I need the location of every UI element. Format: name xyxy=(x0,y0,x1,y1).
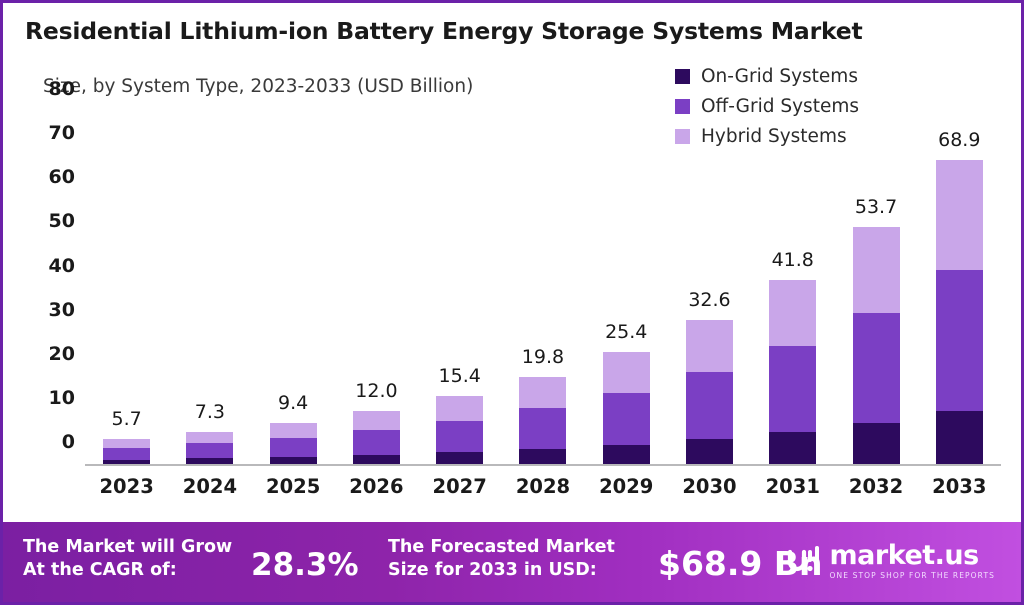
bar-segment xyxy=(769,346,816,432)
bar-column: 25.4 xyxy=(585,111,668,464)
bar-column: 68.9 xyxy=(918,111,1001,464)
bar-value-label: 41.8 xyxy=(772,249,814,271)
bar-stack xyxy=(519,377,566,464)
bar-segment xyxy=(353,430,400,455)
legend-label: On-Grid Systems xyxy=(701,66,858,87)
bar-stack xyxy=(436,396,483,464)
bar-segment xyxy=(603,393,650,445)
bar-segment xyxy=(186,443,233,458)
bar-segment xyxy=(769,432,816,464)
bar-stack xyxy=(353,411,400,464)
y-axis-tick: 0 xyxy=(62,431,75,453)
cagr-caption-line2: At the CAGR of: xyxy=(23,560,177,580)
x-axis-labels: 2023202420252026202720282029203020312032… xyxy=(85,475,1001,505)
bar-column: 12.0 xyxy=(335,111,418,464)
x-axis-label: 2031 xyxy=(751,475,834,505)
cagr-caption-line1: The Market will Grow xyxy=(23,537,232,557)
brand-tagline: ONE STOP SHOP FOR THE REPORTS xyxy=(830,572,995,580)
bar-stack xyxy=(936,160,983,464)
bar-segment xyxy=(270,438,317,457)
bar-segment xyxy=(103,439,150,448)
bar-stack xyxy=(270,423,317,464)
y-axis-tick: 70 xyxy=(49,122,75,144)
bar-stack xyxy=(103,439,150,464)
y-axis-tick: 60 xyxy=(49,166,75,188)
y-axis-tick: 50 xyxy=(49,210,75,232)
bar-value-label: 19.8 xyxy=(522,346,564,368)
bar-value-label: 15.4 xyxy=(439,365,481,387)
bar-column: 15.4 xyxy=(418,111,501,464)
bar-column: 5.7 xyxy=(85,111,168,464)
bar-value-label: 68.9 xyxy=(938,129,980,151)
bar-segment xyxy=(936,411,983,464)
bar-segment xyxy=(936,270,983,411)
bar-value-label: 53.7 xyxy=(855,196,897,218)
bar-segment xyxy=(436,421,483,452)
x-axis-label: 2029 xyxy=(585,475,668,505)
x-axis-label: 2026 xyxy=(335,475,418,505)
bar-stack xyxy=(853,227,900,464)
bar-segment xyxy=(686,372,733,439)
bar-segment xyxy=(519,408,566,449)
bar-stack xyxy=(686,320,733,464)
bar-stack xyxy=(603,352,650,464)
brand-logo: market.us ONE STOP SHOP FOR THE REPORTS xyxy=(787,542,995,580)
x-axis-label: 2027 xyxy=(418,475,501,505)
bar-segment xyxy=(769,280,816,347)
bar-segment xyxy=(936,160,983,270)
y-axis-tick: 80 xyxy=(49,78,75,100)
bar-value-label: 12.0 xyxy=(355,380,397,402)
x-axis-label: 2024 xyxy=(168,475,251,505)
bar-column: 9.4 xyxy=(252,111,335,464)
y-axis-tick: 10 xyxy=(49,387,75,409)
bar-segment xyxy=(270,423,317,438)
forecast-caption: The Forecasted Market Size for 2033 in U… xyxy=(388,536,638,583)
market-us-logo-icon xyxy=(787,544,821,578)
y-axis-tick: 20 xyxy=(49,343,75,365)
bar-segment xyxy=(270,457,317,465)
bar-segment xyxy=(436,452,483,464)
bar-group: 5.77.39.412.015.419.825.432.641.853.768.… xyxy=(85,111,1001,464)
x-axis-label: 2033 xyxy=(918,475,1001,505)
bar-value-label: 32.6 xyxy=(688,289,730,311)
x-axis-line xyxy=(85,464,1001,466)
bar-segment xyxy=(686,320,733,372)
bar-column: 19.8 xyxy=(501,111,584,464)
bar-value-label: 5.7 xyxy=(112,408,142,430)
y-axis-tick: 40 xyxy=(49,255,75,277)
bar-stack xyxy=(769,280,816,464)
brand-name: market.us xyxy=(830,542,995,569)
bar-segment xyxy=(853,313,900,423)
bar-segment xyxy=(103,448,150,459)
brand-text: market.us ONE STOP SHOP FOR THE REPORTS xyxy=(830,542,995,580)
y-axis-tick: 30 xyxy=(49,299,75,321)
x-axis-label: 2023 xyxy=(85,475,168,505)
x-axis-label: 2025 xyxy=(252,475,335,505)
chart-subtitle: Size, by System Type, 2023-2033 (USD Bil… xyxy=(43,76,473,97)
bar-column: 53.7 xyxy=(834,111,917,464)
bar-segment xyxy=(853,423,900,464)
legend-swatch-icon xyxy=(675,69,690,84)
bar-column: 32.6 xyxy=(668,111,751,464)
bar-segment xyxy=(519,377,566,408)
forecast-caption-line1: The Forecasted Market xyxy=(388,537,615,557)
bar-segment xyxy=(686,439,733,464)
bar-segment xyxy=(853,227,900,313)
cagr-value: 28.3% xyxy=(251,547,359,583)
plot-area: 01020304050607080 5.77.39.412.015.419.82… xyxy=(85,111,1001,466)
bar-value-label: 25.4 xyxy=(605,321,647,343)
bar-stack xyxy=(186,432,233,464)
bar-segment xyxy=(603,445,650,464)
bar-segment xyxy=(603,352,650,393)
x-axis-label: 2030 xyxy=(668,475,751,505)
bar-segment xyxy=(186,432,233,443)
bar-segment xyxy=(519,449,566,464)
forecast-caption-line2: Size for 2033 in USD: xyxy=(388,560,597,580)
bar-column: 7.3 xyxy=(168,111,251,464)
x-axis-label: 2032 xyxy=(834,475,917,505)
bar-segment xyxy=(353,411,400,430)
bar-segment xyxy=(353,455,400,464)
cagr-caption: The Market will Grow At the CAGR of: xyxy=(23,536,248,583)
bar-segment xyxy=(436,396,483,421)
legend-item: On-Grid Systems xyxy=(675,65,859,87)
chart-page: Residential Lithium-ion Battery Energy S… xyxy=(0,0,1024,605)
footer-banner: The Market will Grow At the CAGR of: 28.… xyxy=(3,522,1021,602)
bar-value-label: 9.4 xyxy=(278,392,308,414)
page-title: Residential Lithium-ion Battery Energy S… xyxy=(25,17,863,45)
bar-column: 41.8 xyxy=(751,111,834,464)
bar-value-label: 7.3 xyxy=(195,401,225,423)
x-axis-label: 2028 xyxy=(501,475,584,505)
